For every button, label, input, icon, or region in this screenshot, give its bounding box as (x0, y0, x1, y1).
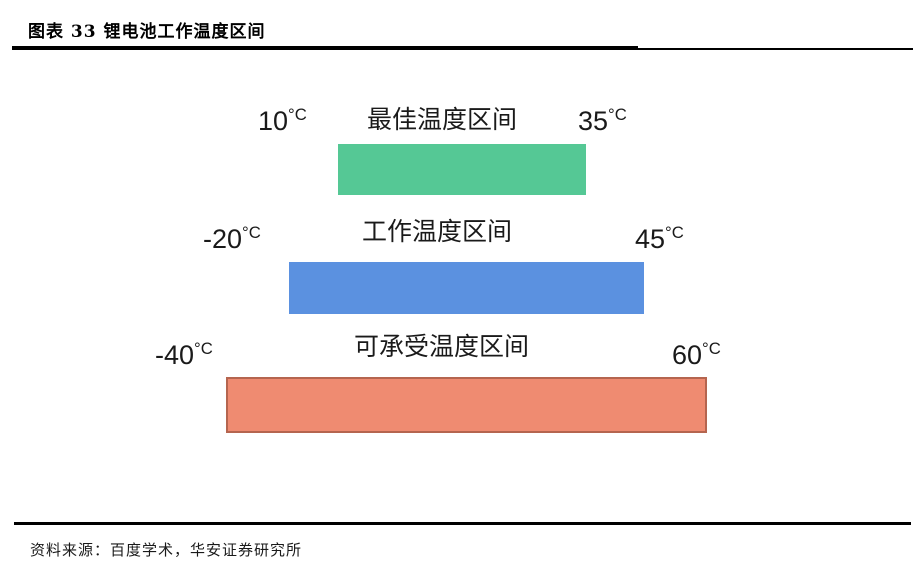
range-start-label-tolerable: -40°C (155, 341, 213, 369)
degree-symbol: °C (702, 339, 721, 358)
degree-symbol: °C (288, 105, 307, 124)
range-title-tolerable: 可承受温度区间 (354, 335, 529, 360)
range-end-label-optimal: 35°C (578, 107, 627, 135)
degree-symbol: °C (608, 105, 627, 124)
footer-divider (14, 522, 911, 525)
range-bar-working (289, 262, 644, 314)
range-start-label-optimal: 10°C (258, 107, 307, 135)
degree-symbol: °C (194, 339, 213, 358)
range-title-working: 工作温度区间 (362, 220, 512, 245)
page-title: 图表 33 锂电池工作温度区间 (28, 17, 266, 42)
range-bar-optimal (338, 144, 586, 195)
figure-header: 图表 33 锂电池工作温度区间 (0, 0, 921, 56)
range-bar-tolerable (226, 377, 707, 433)
degree-symbol: °C (665, 223, 684, 242)
degree-symbol: °C (242, 223, 261, 242)
range-end-label-working: 45°C (635, 225, 684, 253)
source-note: 资料来源：百度学术，华安证券研究所 (30, 539, 302, 560)
range-end-label-tolerable: 60°C (672, 341, 721, 369)
range-start-label-working: -20°C (203, 225, 261, 253)
range-title-optimal: 最佳温度区间 (367, 108, 517, 133)
temperature-range-chart: 10°C 最佳温度区间 35°C -20°C 工作温度区间 45°C -40°C… (0, 56, 921, 511)
header-rule-thick (12, 46, 638, 50)
figure-footer: 资料来源：百度学术，华安证券研究所 (0, 511, 921, 568)
